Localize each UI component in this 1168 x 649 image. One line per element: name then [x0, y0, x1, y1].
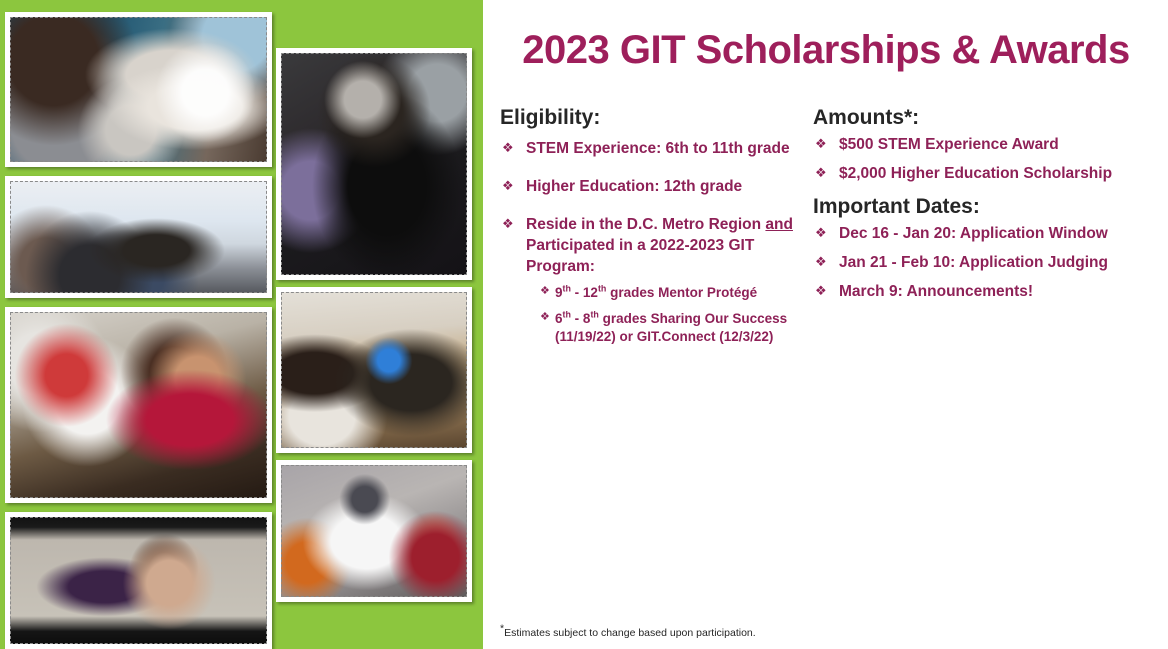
eligibility-column: Eligibility: ❖ STEM Experience: 6th to 1… — [500, 106, 815, 349]
eligibility-item-label-underlined: and — [765, 216, 793, 233]
diamond-bullet-icon: ❖ — [815, 282, 827, 300]
photo-veterinarian-examining-puppy — [5, 12, 272, 167]
diamond-bullet-icon: ❖ — [502, 139, 514, 157]
grade-end-suffix: th — [590, 310, 598, 320]
grade-range-dash: - — [571, 311, 583, 326]
date-item-label: Dec 16 - Jan 20: Application Window — [839, 225, 1108, 242]
diamond-bullet-icon: ❖ — [502, 177, 514, 195]
eligibility-item-label: Higher Education: 12th grade — [526, 178, 742, 195]
diamond-bullet-icon: ❖ — [815, 164, 827, 182]
diamond-bullet-icon: ❖ — [502, 215, 514, 233]
amounts-item-label: $2,000 Higher Education Scholarship — [839, 165, 1112, 182]
date-item-application-window: ❖ Dec 16 - Jan 20: Application Window — [813, 224, 1158, 245]
amounts-heading: Amounts*: — [813, 106, 1158, 130]
diamond-bullet-icon: ❖ — [815, 253, 827, 271]
photo-students-in-computer-lab — [5, 176, 272, 298]
amounts-and-dates-column: Amounts*: ❖ $500 STEM Experience Award ❖… — [813, 106, 1158, 311]
grade-start-suffix: th — [563, 283, 571, 293]
photo-student-beside-astronaut-suit — [276, 460, 472, 602]
photo-collage-panel — [0, 0, 483, 649]
presentation-slide: 2023 GIT Scholarships & Awards Eligibili… — [0, 0, 1168, 649]
diamond-bullet-icon: ❖ — [815, 135, 827, 153]
photo-student-wearing-vr-headset — [276, 48, 472, 280]
photo-student-on-video-call-with-phone — [5, 512, 272, 649]
grade-start: 6 — [555, 311, 563, 326]
content-area: 2023 GIT Scholarships & Awards Eligibili… — [483, 0, 1168, 649]
important-dates-heading: Important Dates: — [813, 195, 1158, 219]
date-item-label: Jan 21 - Feb 10: Application Judging — [839, 254, 1108, 271]
date-item-application-judging: ❖ Jan 21 - Feb 10: Application Judging — [813, 253, 1158, 274]
date-item-announcements: ❖ March 9: Announcements! — [813, 282, 1158, 303]
amounts-item-stem-award: ❖ $500 STEM Experience Award — [813, 135, 1158, 156]
important-dates-list: ❖ Dec 16 - Jan 20: Application Window ❖ … — [813, 224, 1158, 303]
grade-start: 9 — [555, 285, 563, 300]
eligibility-subitem-list: ❖9th - 12th grades Mentor Protégé ❖6th -… — [526, 284, 815, 346]
date-item-label: March 9: Announcements! — [839, 283, 1033, 300]
diamond-bullet-icon: ❖ — [815, 224, 827, 242]
photo-student-presenting-robotic-arm — [5, 307, 272, 503]
grade-range-dash: - — [571, 285, 583, 300]
photo-student-drawing-with-dog — [276, 287, 472, 453]
eligibility-item-stem-experience: ❖ STEM Experience: 6th to 11th grade — [500, 139, 815, 160]
amounts-item-higher-education-scholarship: ❖ $2,000 Higher Education Scholarship — [813, 164, 1158, 185]
diamond-bullet-icon: ❖ — [540, 284, 550, 298]
eligibility-item-label: STEM Experience: 6th to 11th grade — [526, 140, 790, 157]
subitem-label: grades Mentor Protégé — [606, 285, 757, 300]
eligibility-item-higher-education: ❖ Higher Education: 12th grade — [500, 177, 815, 198]
eligibility-list: ❖ STEM Experience: 6th to 11th grade ❖ H… — [500, 139, 815, 345]
page-title: 2023 GIT Scholarships & Awards — [501, 28, 1151, 73]
grade-end: 12 — [583, 285, 598, 300]
footnote: *Estimates subject to change based upon … — [500, 627, 756, 640]
eligibility-subitem-sharing-our-success: ❖6th - 8th grades Sharing Our Success (1… — [540, 310, 815, 345]
eligibility-item-label-part1: Reside in the D.C. Metro Region — [526, 216, 765, 233]
amounts-list: ❖ $500 STEM Experience Award ❖ $2,000 Hi… — [813, 135, 1158, 185]
amounts-item-label: $500 STEM Experience Award — [839, 136, 1059, 153]
eligibility-item-residency-and-program: ❖ Reside in the D.C. Metro Region and Pa… — [500, 215, 815, 345]
eligibility-heading: Eligibility: — [500, 106, 815, 130]
eligibility-subitem-mentor-protege: ❖9th - 12th grades Mentor Protégé — [540, 284, 815, 302]
grade-start-suffix: th — [563, 310, 571, 320]
footnote-text: Estimates subject to change based upon p… — [504, 627, 756, 639]
eligibility-item-label-part2: Participated in a 2022-2023 GIT Program: — [526, 237, 754, 275]
diamond-bullet-icon: ❖ — [540, 310, 550, 324]
